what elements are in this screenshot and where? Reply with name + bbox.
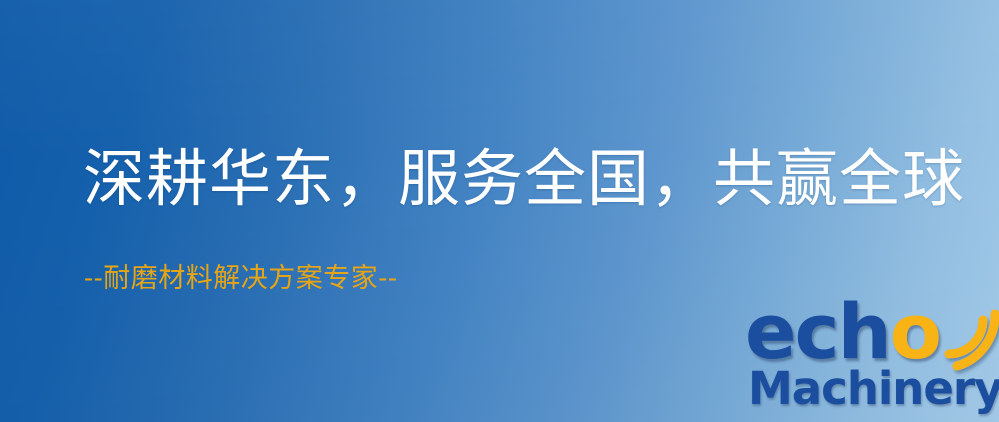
- banner-subheadline: --耐磨材料解决方案专家--: [84, 265, 398, 292]
- promo-banner: 深耕华东，服务全国，共赢全球 --耐磨材料解决方案专家-- echo Machi…: [0, 0, 999, 422]
- echo-machinery-logo: echo Machinery®: [745, 296, 995, 418]
- logo-subtitle: Machinery®: [748, 364, 999, 418]
- logo-wordmark: echo: [745, 296, 940, 368]
- echo-signal-arcs-icon: [929, 288, 999, 368]
- banner-headline: 深耕华东，服务全国，共赢全球: [83, 148, 965, 210]
- logo-subtitle-text: Machinery: [748, 362, 999, 415]
